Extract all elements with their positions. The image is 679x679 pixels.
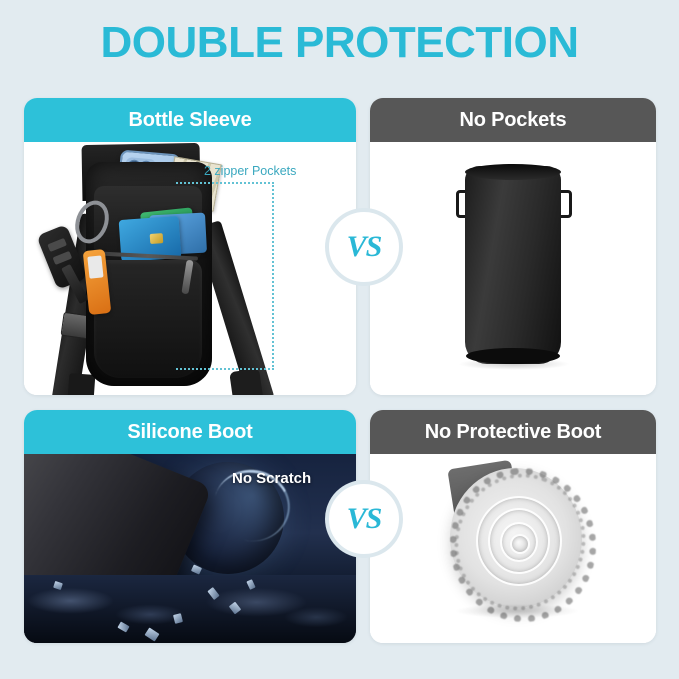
- silicone-boot-photo: No Scratch: [24, 454, 356, 643]
- vs-label: VS: [347, 502, 382, 536]
- card-body-silicone-boot: No Scratch: [24, 454, 356, 643]
- page-title: DOUBLE PROTECTION: [0, 18, 679, 68]
- card-body-no-pockets: [370, 142, 656, 395]
- rocky-ground: [24, 575, 356, 643]
- card-header-no-protective-boot: No Protective Boot: [370, 410, 656, 454]
- card-silicone-boot: Silicone Boot No Scratch: [24, 410, 356, 643]
- card-no-pockets: No Pockets: [370, 98, 656, 395]
- key-fob-button: [53, 251, 73, 265]
- annotation-no-scratch: No Scratch: [232, 470, 311, 487]
- drop-shadow: [458, 358, 570, 370]
- plain-sleeve-photo: [370, 142, 656, 395]
- strap-foot-right: [229, 368, 265, 395]
- card-no-protective-boot: No Protective Boot: [370, 410, 656, 643]
- strap-foot-left: [67, 373, 96, 395]
- annotation-zipper-pockets: 2 zipper Pockets: [204, 164, 296, 178]
- damaged-bottle-photo: [370, 454, 656, 643]
- card-bottle-sleeve: Bottle Sleeve: [24, 98, 356, 395]
- card-header-bottle-sleeve: Bottle Sleeve: [24, 98, 356, 142]
- annotation-bracket-spine: [272, 182, 274, 370]
- drop-shadow: [456, 604, 578, 618]
- vs-badge-bottom: VS: [325, 480, 403, 558]
- key-fob-button: [47, 238, 67, 252]
- card-header-silicone-boot: Silicone Boot: [24, 410, 356, 454]
- annotation-bracket-bottom: [176, 368, 274, 370]
- bottle-sleeve-photo: 2 zipper Pockets: [24, 142, 356, 395]
- card-body-no-protective-boot: [370, 454, 656, 643]
- card-chip-icon: [150, 233, 164, 244]
- vs-label: VS: [347, 230, 382, 264]
- plain-sleeve-rim: [465, 164, 561, 180]
- annotation-bracket-top: [176, 182, 274, 184]
- card-body-bottle-sleeve: 2 zipper Pockets: [24, 142, 356, 395]
- vs-badge-top: VS: [325, 208, 403, 286]
- plain-black-sleeve-body: [465, 166, 561, 364]
- card-header-no-pockets: No Pockets: [370, 98, 656, 142]
- tag-label-area: [87, 255, 103, 278]
